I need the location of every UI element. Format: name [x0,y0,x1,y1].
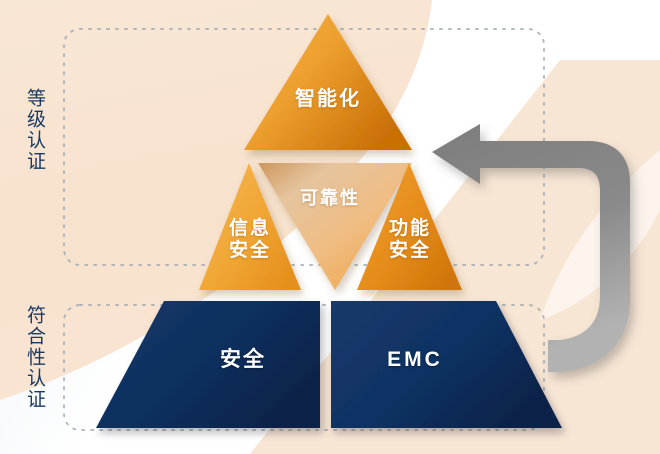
block-label-reliability: 可靠性 [282,188,378,209]
diagram-canvas: 等级认证 符合性认证 智能化 信息 安全 可靠性 功能 安全 安全 EMC [0,0,660,454]
side-label-compliance-certification: 符合性认证 [24,305,44,410]
pyramid-layer [0,0,660,454]
block-label-safety: 安全 [168,348,318,373]
block-label-information-security: 信息 安全 [198,218,302,263]
block-label-functional-safety: 功能 安全 [358,218,462,263]
block-label-intelligent: 智能化 [268,88,388,112]
block-intelligent[interactable] [244,14,412,150]
block-label-emc: EMC [340,348,490,373]
side-label-level-certification: 等级认证 [24,88,44,172]
